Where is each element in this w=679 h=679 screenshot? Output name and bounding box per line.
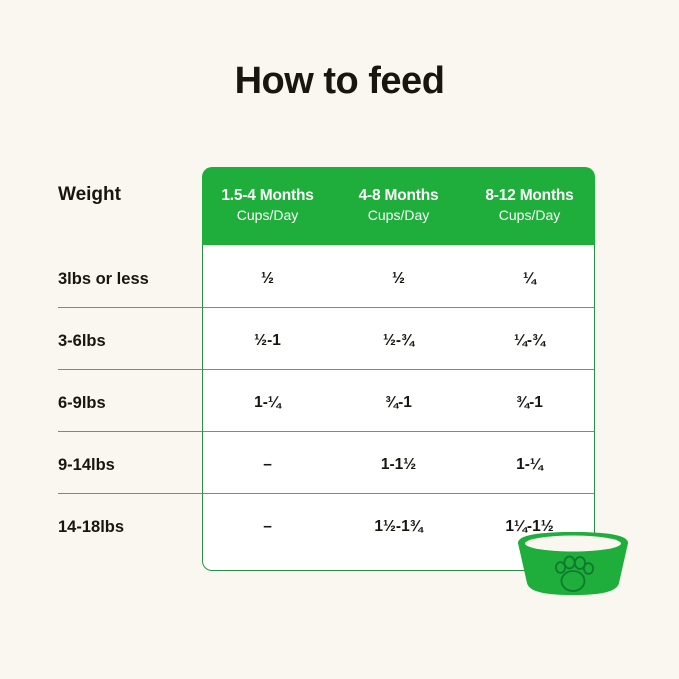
- row-separator: [58, 493, 595, 494]
- row-separator: [58, 369, 595, 370]
- table-cell: ½: [202, 270, 333, 288]
- column-header-title: 4-8 Months: [359, 187, 439, 204]
- column-header-subtitle: Cups/Day: [368, 206, 429, 224]
- table-cell: –: [202, 456, 333, 474]
- row-separator: [58, 431, 595, 432]
- table-cell: ¼: [464, 270, 595, 288]
- feeding-chart-page: How to feed Weight 1.5-4 Months Cups/Day…: [0, 0, 679, 679]
- column-header-subtitle: Cups/Day: [237, 206, 298, 224]
- table-row-weight: 14-18lbs: [58, 518, 124, 537]
- bowl-rim-inner: [525, 536, 621, 552]
- table-row-weight: 3-6lbs: [58, 332, 106, 351]
- table-cell: 1½-1¾: [333, 518, 464, 536]
- column-header-2: 8-12 Months Cups/Day: [464, 167, 595, 245]
- table-row: ½ ½ ¼: [202, 270, 595, 288]
- table-cell: ½-1: [202, 332, 333, 350]
- table-cell: ¾-1: [464, 394, 595, 412]
- table-header-row: 1.5-4 Months Cups/Day 4-8 Months Cups/Da…: [202, 167, 595, 245]
- column-header-title: 8-12 Months: [485, 187, 573, 204]
- table-row-weight: 9-14lbs: [58, 456, 115, 475]
- table-cell: ½-¾: [333, 332, 464, 350]
- table-cell: ½: [333, 270, 464, 288]
- table-cell: ¾-1: [333, 394, 464, 412]
- table-row: 1-¼ ¾-1 ¾-1: [202, 394, 595, 412]
- table-row: – 1-1½ 1-¼: [202, 456, 595, 474]
- row-separator: [58, 307, 595, 308]
- dog-bowl-icon: [512, 531, 634, 597]
- table-row: ½-1 ½-¾ ¼-¾: [202, 332, 595, 350]
- table-row-weight: 3lbs or less: [58, 270, 149, 289]
- column-header-0: 1.5-4 Months Cups/Day: [202, 167, 333, 245]
- column-header-title: 1.5-4 Months: [221, 187, 313, 204]
- table-cell: 1-1½: [333, 456, 464, 474]
- table-cell: –: [202, 518, 333, 536]
- table-cell: 1-¼: [464, 456, 595, 474]
- column-header-subtitle: Cups/Day: [499, 206, 560, 224]
- column-header-1: 4-8 Months Cups/Day: [333, 167, 464, 245]
- table-row-weight: 6-9lbs: [58, 394, 106, 413]
- table-cell: 1-¼: [202, 394, 333, 412]
- table-cell: ¼-¾: [464, 332, 595, 350]
